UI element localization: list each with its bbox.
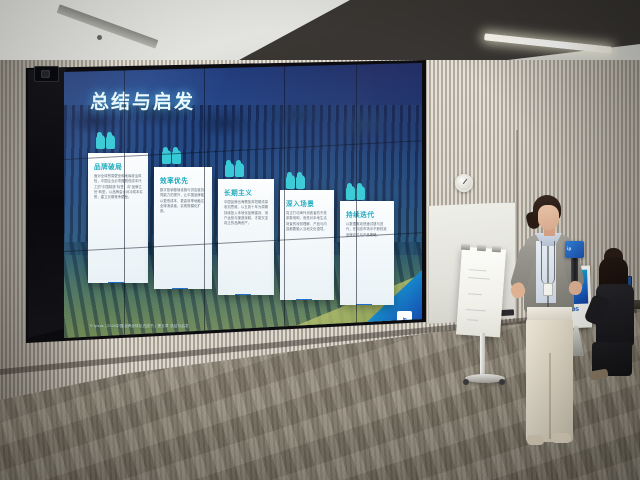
attendee-foot — [589, 369, 608, 381]
easel-post — [480, 333, 485, 377]
conference-room-scene: ip 总结与启发 品牌破局 面对全球贸易壁垒和地缘政治风险，中国企业必须摆脱低成… — [0, 0, 640, 480]
flipchart-scribbles — [463, 263, 497, 327]
microphone-flag-text: ip — [567, 246, 571, 251]
presenter-face — [538, 205, 559, 230]
presenter-trouser-seam — [549, 353, 551, 439]
video-wall-display[interactable]: ip 总结与启发 品牌破局 面对全球贸易壁垒和地缘政治风险，中国企业必须摆脱低成… — [64, 63, 422, 338]
wall-clock — [455, 174, 473, 192]
screen-glare — [64, 63, 422, 338]
ceiling-sensor-dot — [97, 35, 102, 40]
presenter-shoe — [552, 433, 571, 443]
microphone-flag: ip — [565, 241, 584, 258]
video-wall-left-bezel — [28, 62, 66, 340]
presenter-lanyard — [541, 241, 555, 285]
presenter-waistband — [527, 307, 572, 320]
easel-wheel — [463, 379, 469, 385]
seated-attendee — [588, 248, 640, 390]
presenter-shoe — [527, 435, 544, 445]
presenter-badge — [543, 283, 553, 296]
presenter: ip — [505, 195, 591, 455]
camera-lens-icon — [41, 70, 50, 78]
